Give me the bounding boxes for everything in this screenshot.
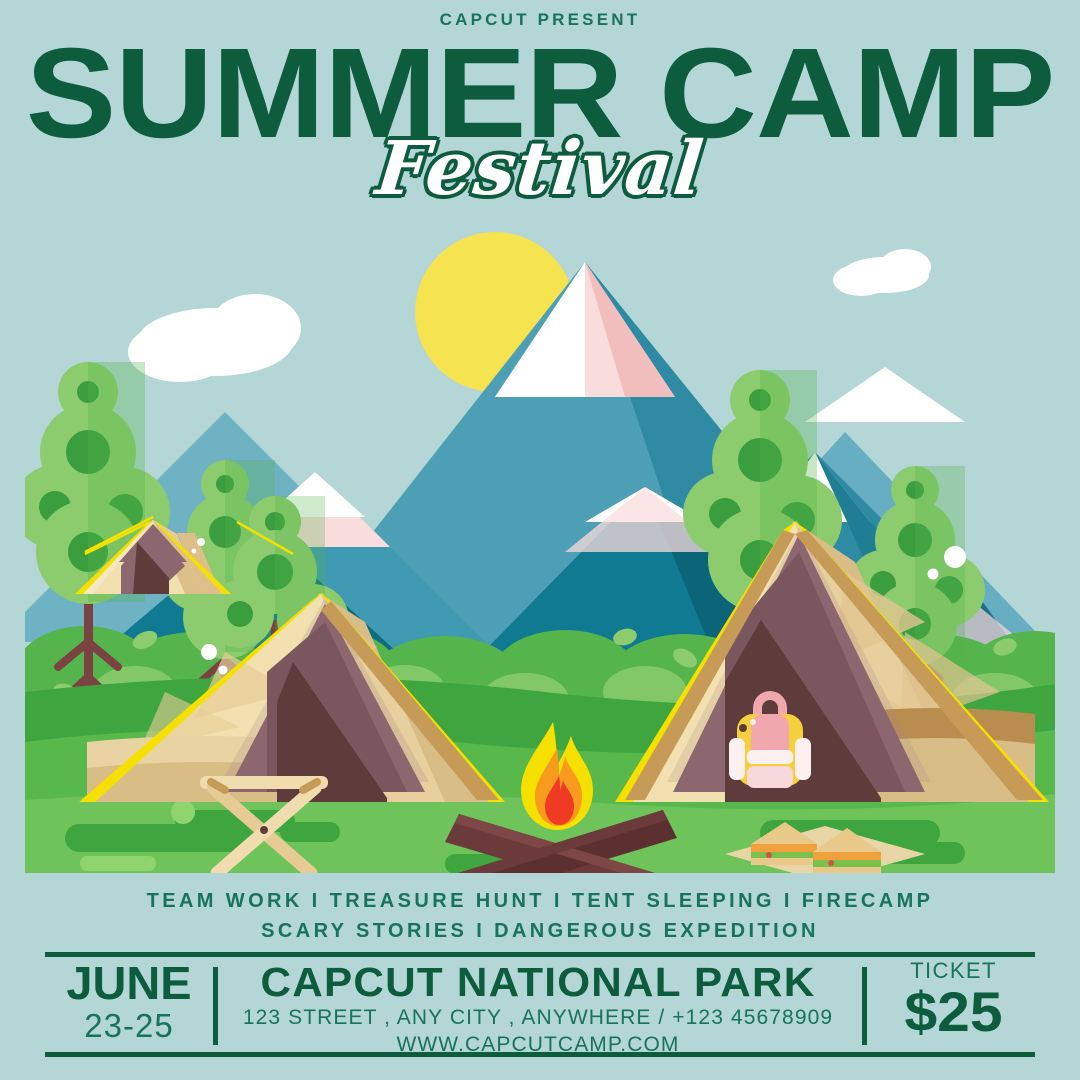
- venue-name: CAPCUT NATIONAL PARK: [214, 960, 863, 1004]
- event-days: 23-25: [45, 1006, 213, 1046]
- ticket-block: TICKET $25: [872, 958, 1035, 1040]
- footer-rule-top: [45, 952, 1035, 957]
- event-date-block: JUNE 23-25: [45, 960, 213, 1046]
- footer-divider-right: [862, 967, 867, 1045]
- venue-website[interactable]: WWW.CAPCUTCAMP.COM: [223, 1031, 853, 1058]
- activities-row-1: TEAM WORK I TREASURE HUNT I TENT SLEEPIN…: [0, 890, 1080, 913]
- camp-illustration: [25, 222, 1055, 873]
- event-month: JUNE: [43, 960, 214, 1006]
- activities-row-2: SCARY STORIES I DANGEROUS EXPEDITION: [0, 920, 1080, 943]
- poster-root: CAPCUT PRESENT SUMMER CAMP Festival: [0, 0, 1080, 1080]
- venue-block: CAPCUT NATIONAL PARK 123 STREET , ANY CI…: [223, 960, 853, 1058]
- ticket-price: $25: [868, 984, 1039, 1040]
- script-subtitle: Festival: [0, 132, 1080, 206]
- venue-address: 123 STREET , ANY CITY , ANYWHERE / +123 …: [223, 1004, 853, 1031]
